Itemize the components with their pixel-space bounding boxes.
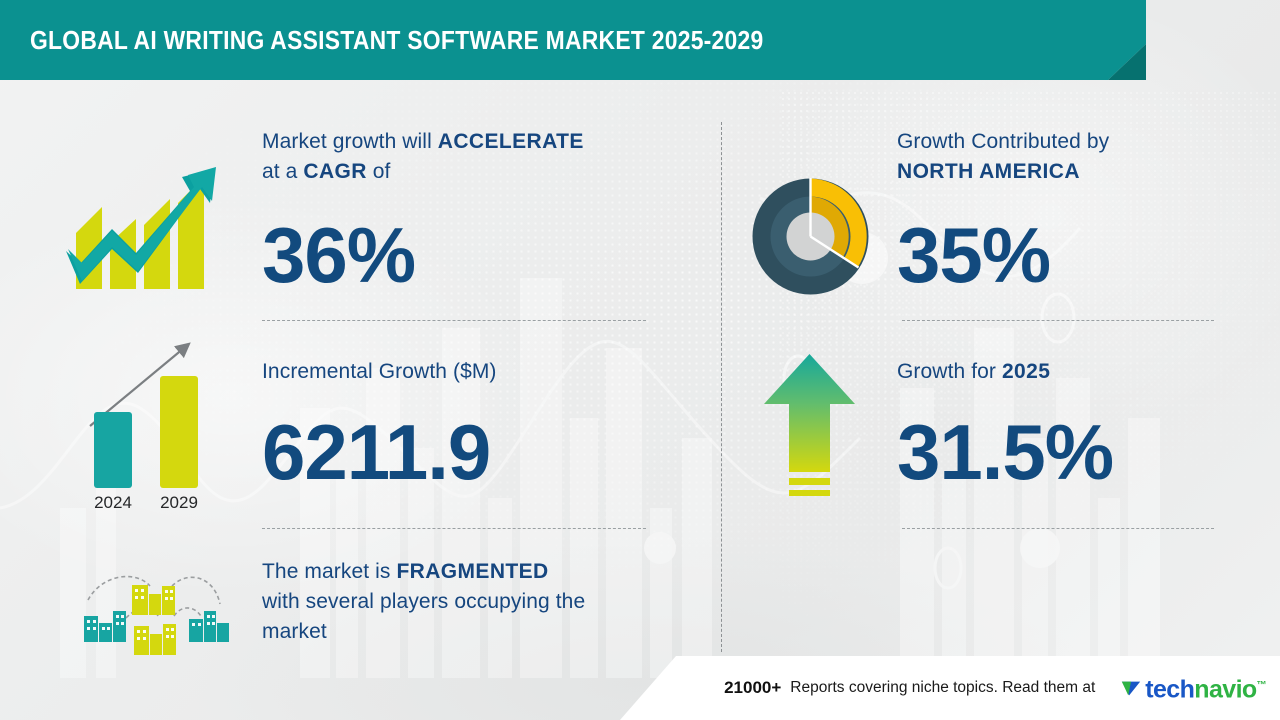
cagr-label: Market growth will ACCELERATE at a CAGR … <box>262 127 662 187</box>
region-value: 35% <box>897 215 1050 295</box>
cagr-label-prefix: Market growth will <box>262 130 438 153</box>
yearly-growth-label: Growth for 2025 <box>897 357 1227 387</box>
logo-text-tech: tech <box>1145 676 1194 704</box>
bar-comparison-icon: 2024 2029 <box>72 334 222 514</box>
region-label-prefix: Growth Contributed by <box>897 130 1109 153</box>
technavio-logo[interactable]: technavio™ <box>1120 673 1266 702</box>
incremental-growth-label: Incremental Growth ($M) <box>262 357 662 387</box>
region-label: Growth Contributed by NORTH AMERICA <box>897 127 1227 187</box>
logo-text-navio: navio <box>1194 676 1256 704</box>
bar-label-2024: 2024 <box>94 493 132 512</box>
logo-trademark: ™ <box>1257 680 1266 691</box>
divider-right-2 <box>902 528 1214 529</box>
bar-2029 <box>160 376 198 488</box>
cagr-label-suffix: of <box>367 160 391 183</box>
connected-cities-icon <box>68 556 243 661</box>
yearly-growth-bold: 2025 <box>1002 360 1050 383</box>
cagr-label-cagr: CAGR <box>303 160 366 183</box>
page-title: GLOBAL AI WRITING ASSISTANT SOFTWARE MAR… <box>30 0 764 80</box>
fragmentation-line3: market <box>262 620 327 643</box>
donut-chart-icon <box>748 174 873 299</box>
cagr-label-mid: at a <box>262 160 303 183</box>
up-arrow-icon <box>762 352 857 504</box>
bar-2024 <box>94 412 132 488</box>
infographic-canvas: GLOBAL AI WRITING ASSISTANT SOFTWARE MAR… <box>0 0 1280 720</box>
bar-label-2029: 2029 <box>160 493 198 512</box>
divider-left-2 <box>262 528 646 529</box>
fragmentation-bold: FRAGMENTED <box>396 560 548 583</box>
footer-tagline: Reports covering niche topics. Read them… <box>790 679 1095 697</box>
fragmentation-line2: with several players occupying the <box>262 590 585 613</box>
technavio-mark-icon <box>1120 677 1142 699</box>
footer-content: 21000+ Reports covering niche topics. Re… <box>620 656 1280 720</box>
growth-chart-icon <box>62 155 227 295</box>
divider-left-1 <box>262 320 646 321</box>
incremental-growth-value: 6211.9 <box>262 412 490 492</box>
divider-right-1 <box>902 320 1214 321</box>
yearly-growth-prefix: Growth for <box>897 360 1002 383</box>
fragmentation-label: The market is FRAGMENTED with several pl… <box>262 557 682 647</box>
cagr-label-accelerate: ACCELERATE <box>438 130 584 153</box>
fragmentation-prefix: The market is <box>262 560 396 583</box>
region-label-bold: NORTH AMERICA <box>897 160 1080 183</box>
cagr-value: 36% <box>262 215 415 295</box>
column-divider <box>721 122 722 652</box>
yearly-growth-value: 31.5% <box>897 412 1113 492</box>
report-count: 21000+ <box>724 678 781 698</box>
footer: 21000+ Reports covering niche topics. Re… <box>0 656 1280 720</box>
